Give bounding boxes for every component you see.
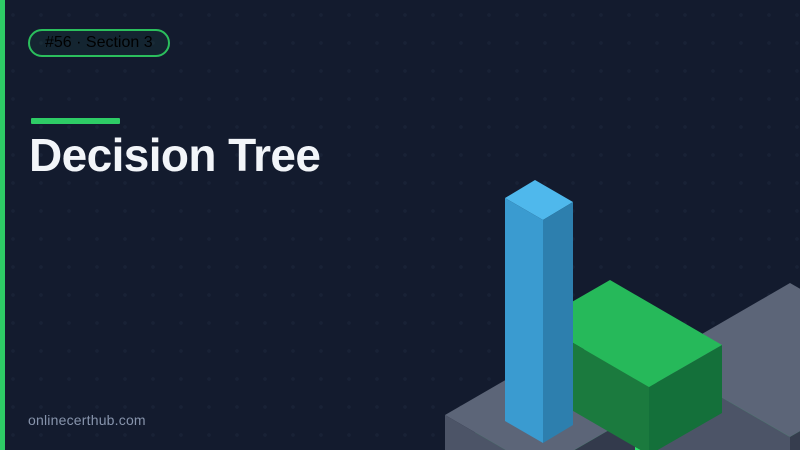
footer-url: onlinecerthub.com — [28, 412, 146, 428]
title-accent-bar — [31, 118, 120, 124]
blue-tower-right-face — [543, 202, 573, 443]
blue-tower-left-face — [505, 198, 543, 443]
left-edge-accent-bar — [0, 0, 5, 450]
page-title: Decision Tree — [29, 129, 320, 181]
section-badge: #56 · Section 3 — [28, 29, 170, 57]
isometric-blocks-illustration — [425, 125, 800, 425]
section-badge-label: #56 · Section 3 — [45, 34, 153, 52]
slide-root: #56 · Section 3 Decision Tree onlinecert… — [0, 0, 800, 450]
blue-tower-shape — [505, 180, 573, 443]
